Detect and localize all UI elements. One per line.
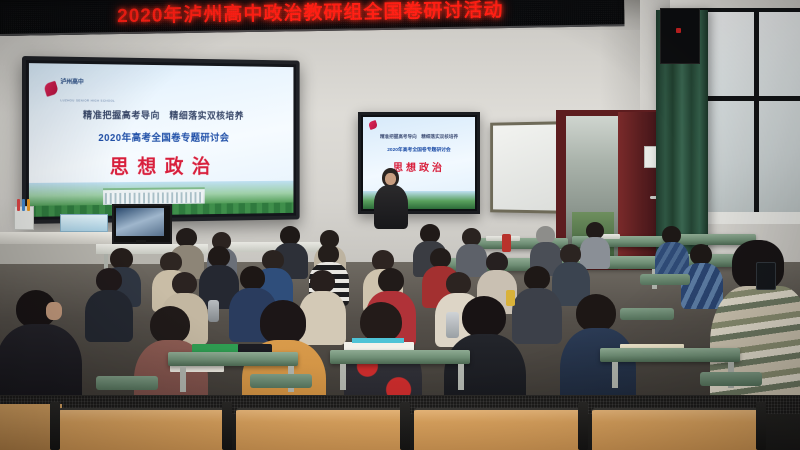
desk-leg [180,366,186,392]
foreground-desk-top [592,408,762,450]
desk-leg [340,364,346,390]
monitor-logo-icon [368,120,378,130]
slide-logo: 泸州高中 LUZHOU SENIOR HIGH SCHOOL [45,70,115,106]
foreground-desk-top [414,408,584,450]
foreground-desk-top [58,408,228,450]
chair [250,374,312,388]
slide-logo-name: 泸州高中 [60,79,83,85]
yellow-bottle [506,290,515,306]
desk-divider [400,402,410,450]
slide-logo-sub: LUZHOU SENIOR HIGH SCHOOL [60,98,115,102]
monitor-line-2: 2020年高考全国卷专题研讨会 [363,146,475,153]
thermos-cup [208,300,219,322]
desk-leg [612,362,618,388]
thermos-cup [446,312,459,338]
slide-line-1: 精准把握高考导向 精细落实双核培养 [29,107,293,122]
supply-box [60,214,108,232]
chair [700,372,762,386]
desk [330,350,470,364]
classroom-scene: 2020年泸州高中政治教研组全国卷研讨活动 泸州高中 LUZHOU SENIOR… [0,0,800,450]
window-mullion-horizontal [700,96,800,101]
wall-speaker-right-icon [660,8,700,64]
desk-divider [756,402,766,450]
red-thermos [502,234,511,252]
projection-screen: 泸州高中 LUZHOU SENIOR HIGH SCHOOL 精准把握高考导向 … [22,56,300,224]
highlighter-strip [352,338,404,343]
desk-divider [50,402,60,450]
school-swoosh-icon [43,80,59,96]
desk-divider [222,402,232,450]
foreground-desk-top [236,408,406,450]
projection-screen-surface: 泸州高中 LUZHOU SENIOR HIGH SCHOOL 精准把握高考导向 … [29,63,293,217]
window-mullion-vertical [754,8,759,213]
desk [168,352,298,366]
chair [640,274,690,285]
whiteboard [490,121,565,214]
chair [620,308,674,320]
pen-holder [14,206,34,230]
slide-line-3: 思想政治 [29,150,293,180]
chair [96,376,158,390]
desk [600,348,740,362]
desktop-monitor-screen [116,208,164,236]
monitor-line-3: 思想政治 [363,159,475,174]
smartphone-icon [756,262,776,290]
desk-leg [458,364,464,390]
desk-divider [578,402,588,450]
slide-line-2: 2020年高考全国卷专题研讨会 [29,129,293,144]
window [700,8,800,221]
monitor-line-1: 精准把握高考导向 精细落实双核培养 [363,134,475,140]
speaker-power-led-icon [676,28,681,33]
